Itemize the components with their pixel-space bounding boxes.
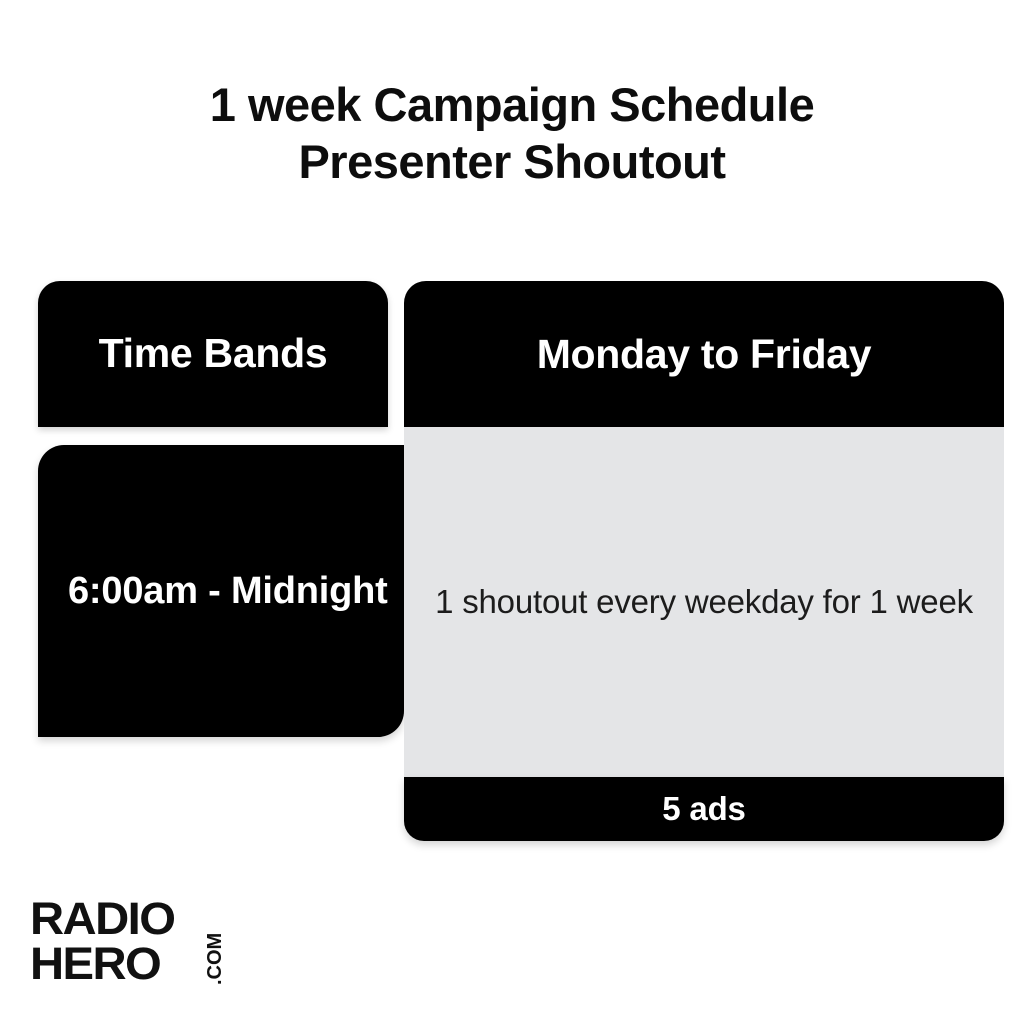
page-title-line-2: Presenter Shoutout xyxy=(0,133,1024,190)
campaign-schedule-table: Time Bands 6:00am - Midnight Monday to F… xyxy=(0,281,1024,851)
page-title-line-1: 1 week Campaign Schedule xyxy=(0,76,1024,133)
page-title: 1 week Campaign Schedule Presenter Shout… xyxy=(0,76,1024,190)
weekday-header: Monday to Friday xyxy=(404,281,1004,427)
time-band-cell: 6:00am - Midnight xyxy=(38,445,404,737)
total-ads-footer: 5 ads xyxy=(404,777,1004,841)
weekday-detail-value: 1 shoutout every weekday for 1 week xyxy=(435,580,973,624)
total-ads-value: 5 ads xyxy=(662,790,745,828)
time-bands-header-label: Time Bands xyxy=(99,331,328,376)
logo-line-hero: HERO xyxy=(30,941,272,986)
radiohero-logo: RADIO HERO .COM xyxy=(30,896,260,992)
time-bands-header: Time Bands xyxy=(38,281,388,427)
weekday-detail-cell: 1 shoutout every weekday for 1 week xyxy=(404,427,1004,777)
logo-line-radio: RADIO xyxy=(30,896,272,941)
time-band-value: 6:00am - Midnight xyxy=(68,568,388,614)
weekday-header-label: Monday to Friday xyxy=(537,331,872,378)
weekday-column: Monday to Friday 1 shoutout every weekda… xyxy=(404,281,1004,841)
logo-tld-com: .COM xyxy=(204,933,227,985)
logo-line-hero-row: HERO .COM xyxy=(30,941,260,989)
time-bands-column: Time Bands 6:00am - Midnight xyxy=(38,281,388,427)
